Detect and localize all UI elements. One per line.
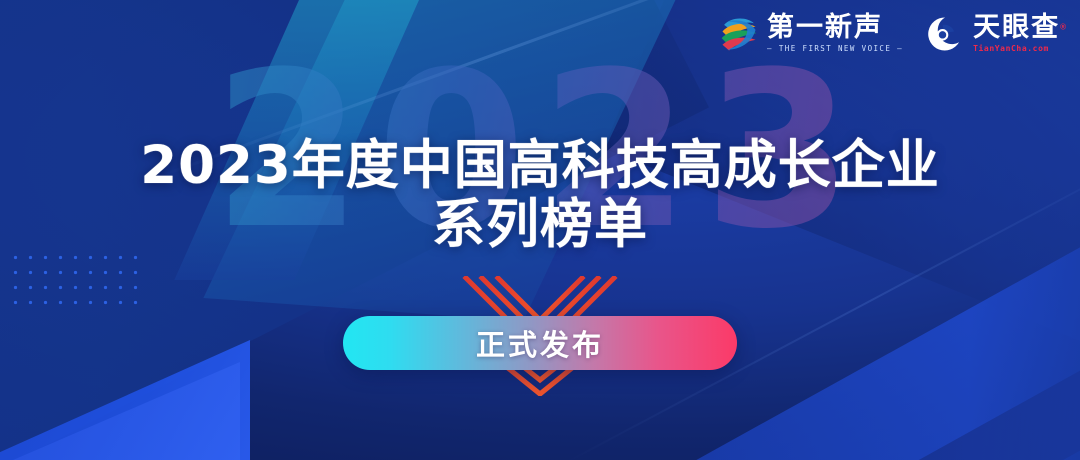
title-line-1: 2023年度中国高科技高成长企业 [0,136,1080,195]
logo-tianyancha-name: 天眼查 [973,12,1060,43]
status-badge: 正式发布 [343,316,737,370]
logo-tianyancha[interactable]: 天眼查® TianYanCha.com [925,14,1066,53]
logo-diyixinsheng-name: 第一新声 [767,14,903,41]
logo-diyixinsheng-tagline: — THE FIRST NEW VOICE — [767,45,903,53]
background-triangle-bottom-left [0,340,250,460]
background-triangle-bottom-left-light [0,362,240,460]
logo-diyixinsheng-text: 第一新声 — THE FIRST NEW VOICE — [767,14,903,53]
page-title: 2023年度中国高科技高成长企业 系列榜单 [0,136,1080,255]
logo-group: 第一新声 — THE FIRST NEW VOICE — 天眼查® TianYa… [719,14,1066,53]
dot-grid-decoration [6,248,148,310]
status-badge-label: 正式发布 [476,322,604,364]
swoosh-logo-icon [719,15,759,53]
logo-tianyancha-tagline: TianYanCha.com [973,45,1066,53]
poster-canvas: 2023 2023年度中国高科技高成长企业 系列榜 [0,0,1080,460]
aperture-logo-icon [925,15,965,53]
logo-diyixinsheng[interactable]: 第一新声 — THE FIRST NEW VOICE — [719,14,903,53]
trademark-icon: ® [1060,23,1066,32]
background-band-bottom-right-dark [773,308,1080,460]
title-line-2: 系列榜单 [0,195,1080,254]
logo-tianyancha-text: 天眼查® TianYanCha.com [973,14,1066,53]
